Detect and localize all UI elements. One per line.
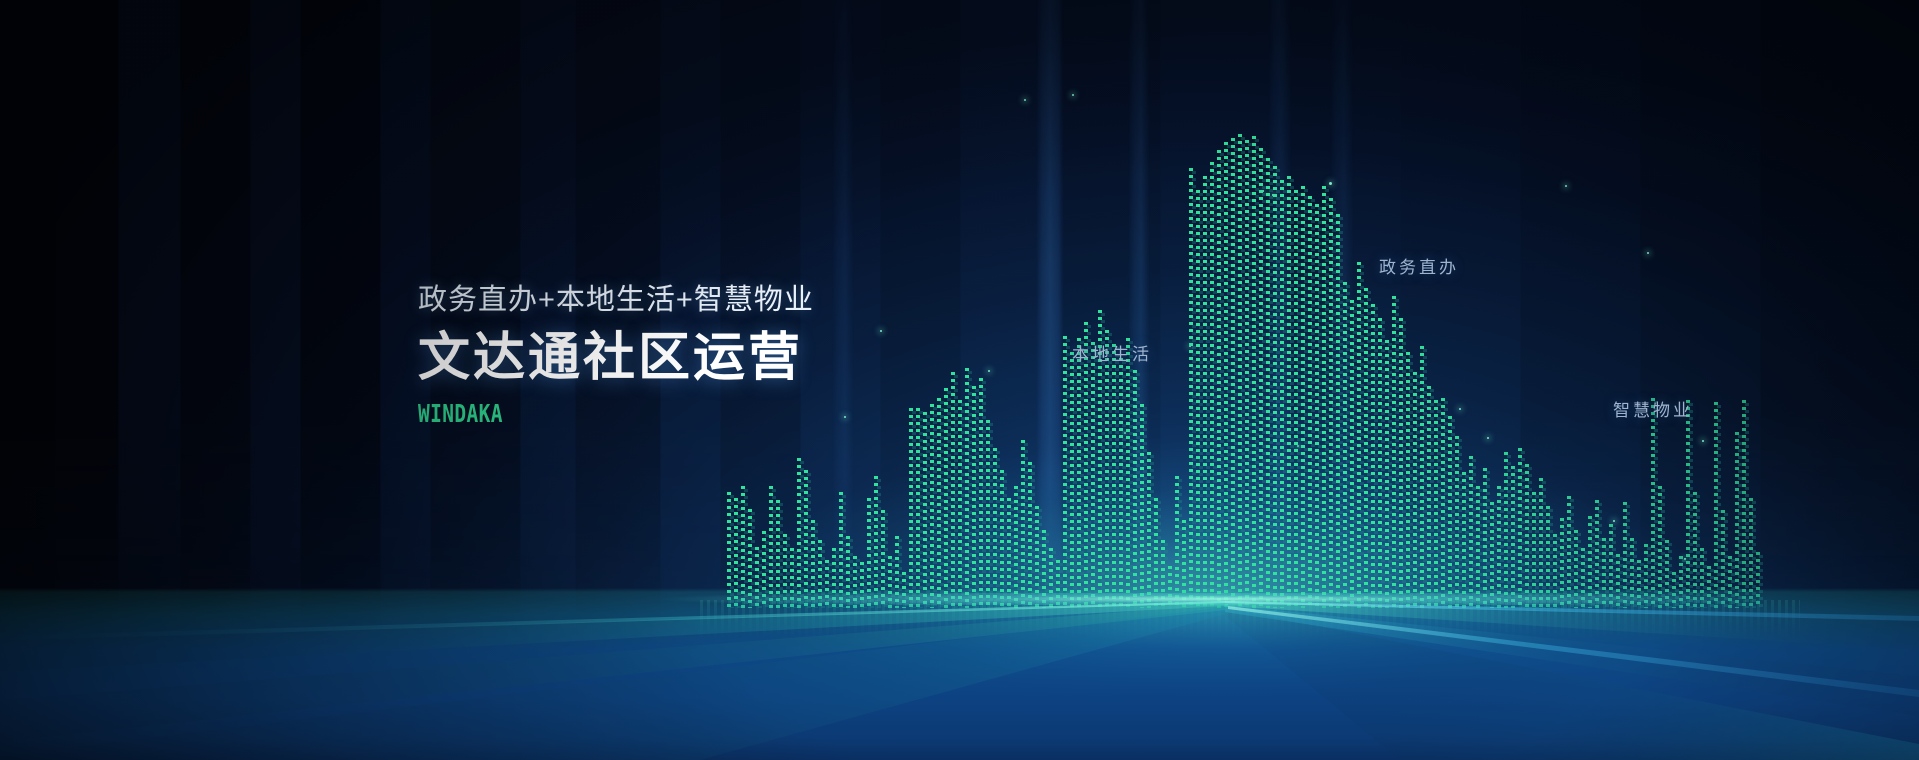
district-label-government: 政务直办: [1379, 253, 1459, 278]
horizon-light-line: [0, 593, 1919, 605]
floor-wedge-svg: [0, 0, 1919, 760]
hero-banner: 政务直办 本地生活 智慧物业 政务直办+本地生活+智慧物业 文达通社区运营 WI…: [0, 0, 1919, 760]
banner-title: 文达通社区运营: [418, 329, 814, 387]
brand-wordmark: WINDAKA: [418, 399, 727, 428]
district-label-smart-property: 智慧物业: [1613, 396, 1693, 421]
floor-light-wedges: [0, 0, 1919, 760]
banner-subtitle: 政务直办+本地生活+智慧物业: [418, 285, 814, 317]
headline-block: 政务直办+本地生活+智慧物业 文达通社区运营 WINDAKA: [418, 285, 814, 428]
district-label-local-life: 本地生活: [1072, 340, 1152, 365]
